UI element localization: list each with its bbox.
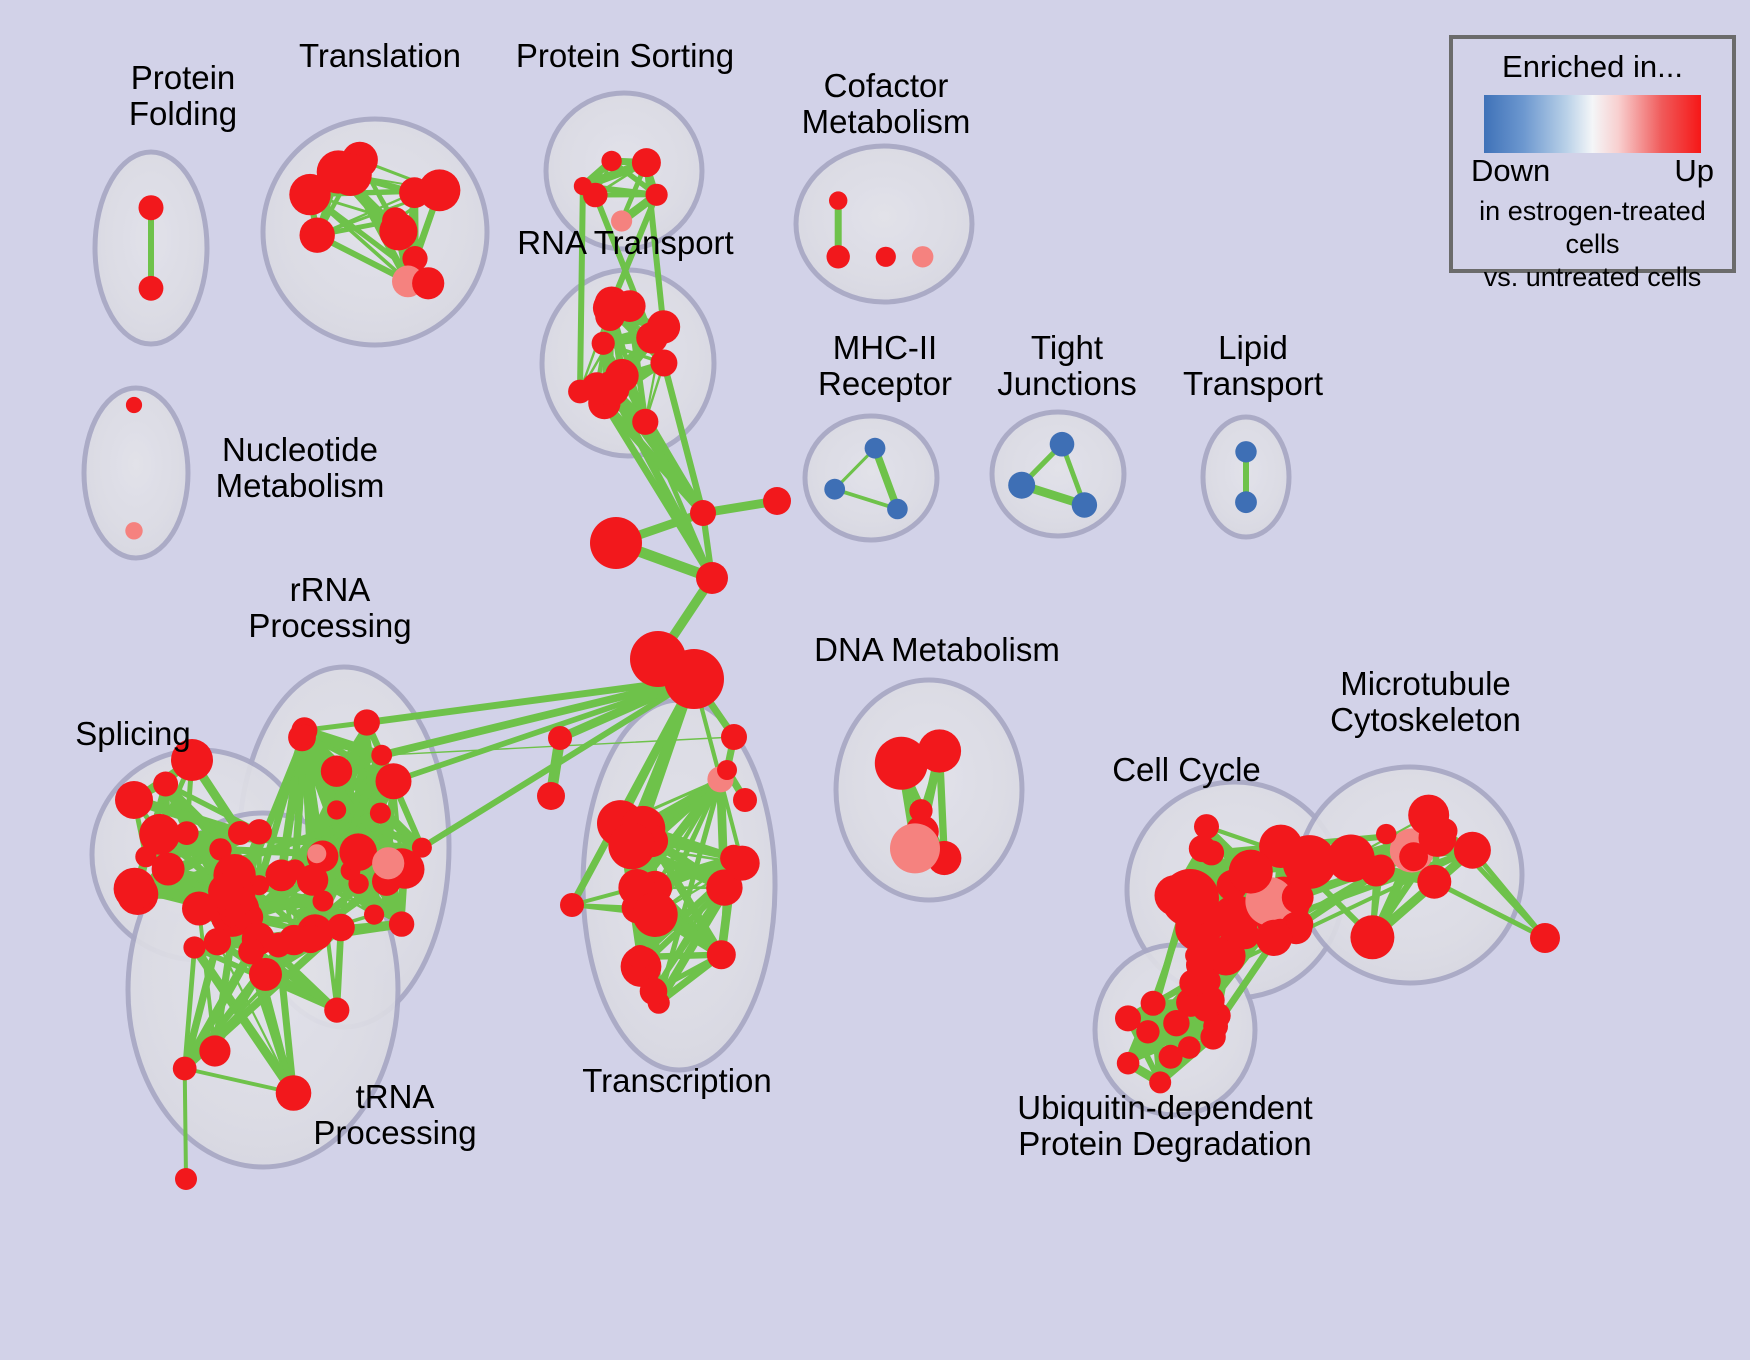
network-node[interactable] [646,184,668,206]
network-node[interactable] [1399,842,1428,871]
network-node[interactable] [1117,1052,1140,1075]
network-node[interactable] [1194,814,1219,839]
network-node[interactable] [317,150,360,193]
network-node[interactable] [321,756,352,787]
network-node[interactable] [238,938,264,964]
network-node[interactable] [182,892,216,926]
network-node[interactable] [115,781,153,819]
network-node[interactable] [632,148,661,177]
network-node[interactable] [1530,923,1560,953]
network-node[interactable] [171,739,213,781]
network-node[interactable] [1149,1071,1171,1093]
network-node[interactable] [126,397,142,413]
network-node[interactable] [399,177,430,208]
network-node[interactable] [1417,865,1451,899]
network-node[interactable] [307,844,326,863]
network-node[interactable] [372,847,404,879]
network-edge [580,186,583,391]
network-node[interactable] [1199,840,1224,865]
network-node[interactable] [721,724,747,750]
network-node[interactable] [717,760,737,780]
network-node[interactable] [1186,951,1214,979]
network-node[interactable] [1159,1045,1183,1069]
network-figure: Protein FoldingTranslationProtein Sortin… [0,0,1750,1360]
network-node[interactable] [125,522,142,539]
network-node[interactable] [608,823,655,870]
network-node[interactable] [1136,1020,1159,1043]
network-node[interactable] [1141,991,1166,1016]
network-node[interactable] [1163,1010,1189,1036]
network-node[interactable] [204,928,231,955]
network-node[interactable] [1361,856,1392,887]
network-node[interactable] [827,245,850,268]
network-node[interactable] [412,838,432,858]
network-node[interactable] [389,911,414,936]
network-node[interactable] [548,726,572,750]
network-node[interactable] [593,291,627,325]
network-node[interactable] [537,782,565,810]
network-node[interactable] [327,914,355,942]
network-node[interactable] [1282,882,1314,914]
network-node[interactable] [865,438,886,459]
network-node[interactable] [1232,921,1260,949]
network-node[interactable] [173,1057,197,1081]
network-node[interactable] [152,853,185,886]
network-node[interactable] [114,868,156,910]
network-node[interactable] [601,151,621,171]
network-node[interactable] [690,500,716,526]
cluster-hulls [84,93,1522,1167]
network-node[interactable] [354,709,380,735]
legend-caption-line1: in estrogen-treated cells [1471,195,1714,261]
network-node[interactable] [300,218,335,253]
cluster-hull-cofactor-metabolism[interactable] [796,146,972,302]
network-node[interactable] [371,745,392,766]
network-node[interactable] [228,821,252,845]
legend-endpoints: Down Up [1471,153,1714,189]
network-edge [221,849,317,853]
network-node[interactable] [1454,832,1491,869]
legend-title: Enriched in... [1471,49,1714,85]
cluster-hull-tight-junctions[interactable] [992,412,1124,536]
network-node[interactable] [647,310,680,343]
network-node[interactable] [590,517,642,569]
network-edge [185,1069,186,1180]
network-node[interactable] [313,891,334,912]
network-node[interactable] [594,371,630,407]
network-node[interactable] [223,861,251,889]
network-node[interactable] [664,649,724,709]
network-node[interactable] [183,936,205,958]
network-node[interactable] [1050,432,1075,457]
legend-box: Enriched in... Down Up in estrogen-treat… [1449,35,1736,273]
network-node[interactable] [175,1168,197,1190]
network-node[interactable] [1008,472,1035,499]
network-node[interactable] [696,562,728,594]
network-node[interactable] [574,177,592,195]
network-node[interactable] [225,903,246,924]
network-node[interactable] [139,195,164,220]
legend-gradient-bar [1484,95,1701,153]
legend-low-label: Down [1471,153,1550,189]
network-node[interactable] [339,833,377,871]
network-node[interactable] [1200,1024,1225,1049]
legend-caption-line2: vs. untreated cells [1471,261,1714,294]
cluster-hull-mhc-ii-receptor[interactable] [805,416,937,540]
network-node[interactable] [370,803,391,824]
network-node[interactable] [1072,492,1097,517]
network-node[interactable] [324,998,349,1023]
network-node[interactable] [199,1035,230,1066]
legend-high-label: Up [1674,153,1714,189]
network-node[interactable] [296,925,325,954]
network-node[interactable] [824,479,845,500]
network-node[interactable] [1376,824,1396,844]
network-node[interactable] [1161,869,1219,927]
network-node[interactable] [266,933,291,958]
network-node[interactable] [650,350,677,377]
network-node[interactable] [276,1075,312,1111]
network-node[interactable] [1235,491,1257,513]
network-node[interactable] [640,977,668,1005]
network-node[interactable] [628,945,652,969]
network-node[interactable] [876,247,896,267]
network-node[interactable] [285,859,306,880]
network-node[interactable] [376,763,412,799]
network-node[interactable] [763,487,791,515]
network-node[interactable] [1193,996,1218,1021]
network-node[interactable] [327,800,346,819]
network-node[interactable] [1235,441,1256,462]
network-node[interactable] [135,846,156,867]
network-node[interactable] [568,380,592,404]
network-node[interactable] [139,276,164,301]
network-node[interactable] [153,772,178,797]
network-node[interactable] [918,729,961,772]
network-node[interactable] [611,210,632,231]
network-node[interactable] [1229,850,1273,894]
network-node[interactable] [707,940,736,969]
network-node[interactable] [912,246,933,267]
network-node[interactable] [382,207,408,233]
network-node[interactable] [364,905,384,925]
network-node[interactable] [412,267,444,299]
network-node[interactable] [1350,915,1394,959]
network-node[interactable] [1256,920,1292,956]
network-node[interactable] [725,846,760,881]
network-node[interactable] [1432,818,1457,843]
network-node[interactable] [829,191,847,209]
network-node[interactable] [592,332,615,355]
legend-caption: in estrogen-treated cells vs. untreated … [1471,195,1714,294]
network-node[interactable] [887,499,908,520]
network-node[interactable] [733,788,757,812]
network-node[interactable] [633,892,678,937]
network-node[interactable] [295,725,316,746]
network-node[interactable] [632,409,658,435]
network-node[interactable] [890,823,940,873]
network-node[interactable] [560,893,584,917]
